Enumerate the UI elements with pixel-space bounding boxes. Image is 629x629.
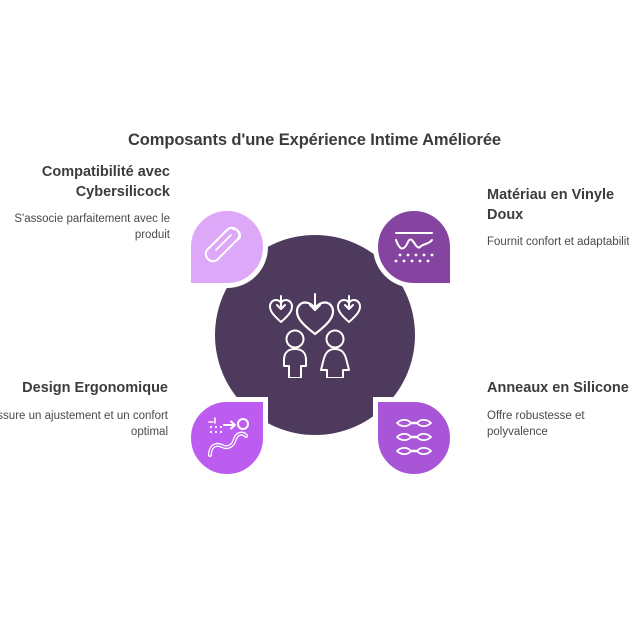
description-material: Fournit confort et adaptabilité [487,234,629,250]
heading-rings: Anneaux en Silicone [487,379,629,399]
text-block-rings: Anneaux en Silicone Offre robustesse et … [487,379,629,440]
page-title: Composants d'une Expérience Intime Améli… [0,131,629,150]
node-design[interactable] [186,397,268,479]
heading-compatibility: Compatibilité avec Cybersilicock [0,163,170,202]
text-block-design: Design Ergonomique Assure un ajustement … [0,379,168,440]
node-material[interactable] [373,206,455,288]
node-compatibility[interactable] [186,206,268,288]
node-rings[interactable] [373,397,455,479]
description-compatibility: S'associe parfaitement avec le produit [0,211,170,244]
text-block-material: Matériau en Vinyle Doux Fournit confort … [487,186,629,250]
soft-vinyl-fabric-icon [391,227,437,267]
description-design: Assure un ajustement et un confort optim… [0,408,168,441]
description-rings: Offre robustesse et polyvalence [487,408,629,441]
couple-with-hearts-icon [267,292,363,378]
infographic-canvas: Composants d'une Expérience Intime Améli… [0,0,629,629]
silicone-rings-icon [391,416,437,460]
ergonomic-curve-icon [203,415,251,461]
text-block-compatibility: Compatibilité avec Cybersilicock S'assoc… [0,163,170,244]
heading-design: Design Ergonomique [0,379,168,399]
heading-material: Matériau en Vinyle Doux [487,186,629,225]
condom-icon [204,224,250,270]
